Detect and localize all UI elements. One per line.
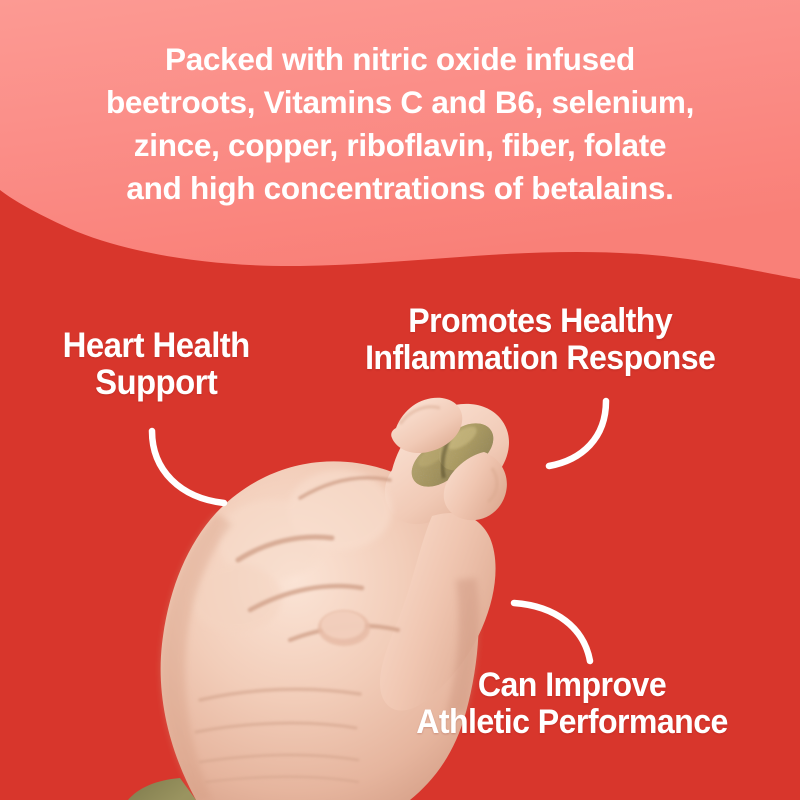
sleeve-cuff (128, 778, 196, 800)
paragraph-line-3: zince, copper, riboflavin, fiber, folate (40, 124, 760, 167)
benefit-heart-health-support: Heart Health Support (34, 327, 278, 401)
paragraph-line-2: beetroots, Vitamins C and B6, selenium, (40, 81, 760, 124)
benefit-inflammation-line-1: Promotes Healthy (330, 303, 750, 340)
benefit-inflammation-line-2: Inflammation Response (330, 340, 750, 377)
benefit-heart-line-2: Support (34, 364, 278, 401)
benefit-heart-line-1: Heart Health (34, 327, 278, 364)
paragraph-line-1: Packed with nitric oxide infused (40, 38, 760, 81)
poster-canvas: Packed with nitric oxide infused beetroo… (0, 0, 800, 800)
paragraph-line-4: and high concentrations of betalains. (40, 167, 760, 210)
benefit-athletic-line-1: Can Improve (386, 667, 758, 704)
benefit-athletic-line-2: Athletic Performance (386, 704, 758, 741)
benefit-inflammation-response: Promotes Healthy Inflammation Response (330, 303, 750, 376)
benefit-athletic-performance: Can Improve Athletic Performance (386, 667, 758, 740)
benefit-paragraph: Packed with nitric oxide infused beetroo… (0, 38, 800, 210)
